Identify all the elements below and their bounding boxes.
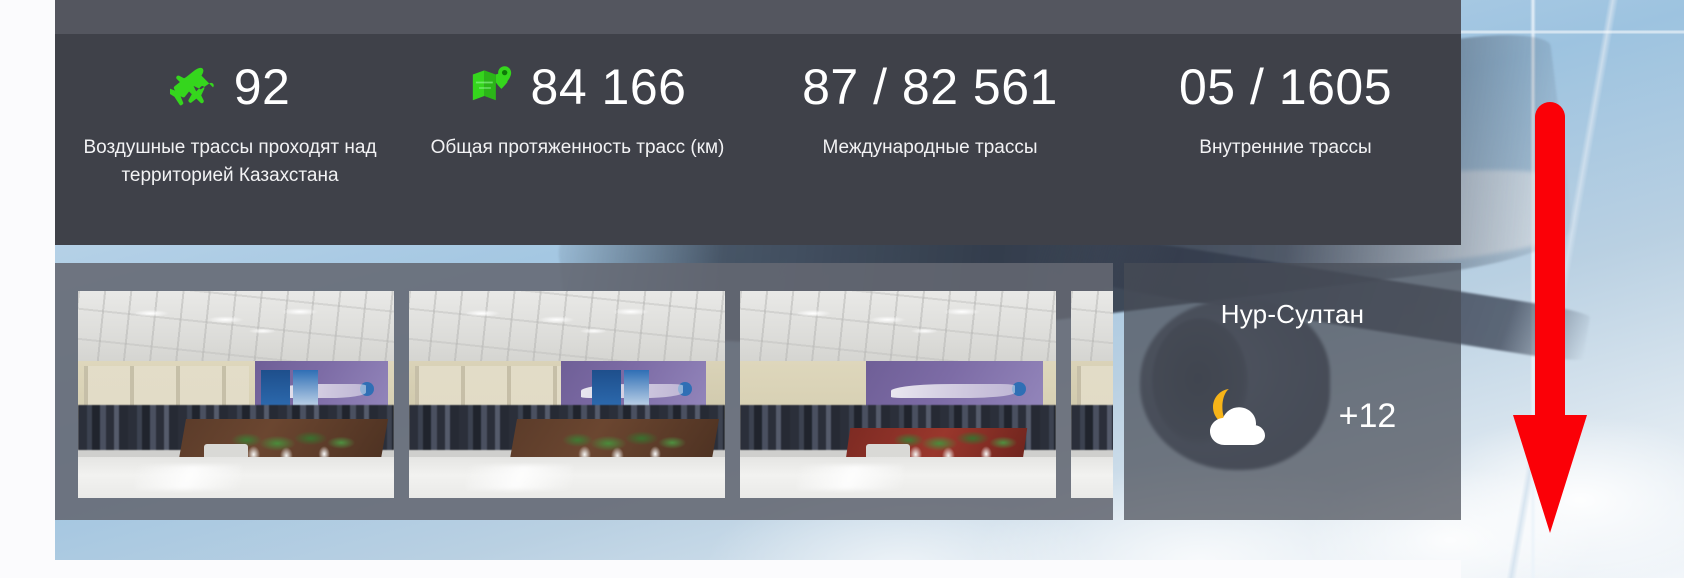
gallery-thumbnail[interactable] xyxy=(78,291,394,498)
statistics-bar: 92 Воздушные трассы проходят над террито… xyxy=(55,34,1461,245)
gallery-thumbnail[interactable] xyxy=(1071,291,1113,498)
map-pin-icon xyxy=(469,64,515,110)
stat-value: 87 / 82 561 xyxy=(802,62,1058,112)
page-left-margin xyxy=(0,0,55,578)
stat-label: Внутренние трассы xyxy=(1122,134,1449,162)
upper-panel xyxy=(55,0,1461,34)
conference-room-photo xyxy=(409,291,725,498)
weather-city-name: Нур-Султан xyxy=(1124,299,1461,330)
weather-readout: +12 xyxy=(1124,381,1461,451)
conference-room-photo xyxy=(78,291,394,498)
weather-temperature: +12 xyxy=(1339,397,1397,436)
conference-room-photo xyxy=(1071,291,1113,498)
gallery-thumbnail[interactable] xyxy=(409,291,725,498)
stat-value: 84 166 xyxy=(531,62,687,112)
stat-label: Международные трассы xyxy=(762,134,1098,162)
stat-label: Воздушные трассы проходят над территорие… xyxy=(67,134,393,189)
page-bottom-margin xyxy=(55,560,1461,578)
carousel-track[interactable] xyxy=(78,291,1113,498)
stat-card-total-length: 84 166 Общая протяженность трасс (км) xyxy=(405,56,750,162)
stat-card-air-routes: 92 Воздушные трассы проходят над террито… xyxy=(55,56,405,189)
page-root: 92 Воздушные трассы проходят над террито… xyxy=(0,0,1684,578)
airplane-icon xyxy=(170,63,218,111)
stat-value: 05 / 1605 xyxy=(1179,62,1392,112)
moon-cloud-icon xyxy=(1189,381,1281,451)
stat-card-international-routes: 87 / 82 561 Международные трассы xyxy=(750,56,1110,162)
weather-widget[interactable]: Нур-Султан +12 xyxy=(1124,263,1461,520)
news-photo-carousel[interactable] xyxy=(55,263,1113,520)
stat-label: Общая протяженность трасс (км) xyxy=(417,134,738,162)
gallery-thumbnail[interactable] xyxy=(740,291,1056,498)
conference-room-photo xyxy=(740,291,1056,498)
stat-value: 92 xyxy=(234,62,291,112)
stat-card-domestic-routes: 05 / 1605 Внутренние трассы xyxy=(1110,56,1461,162)
